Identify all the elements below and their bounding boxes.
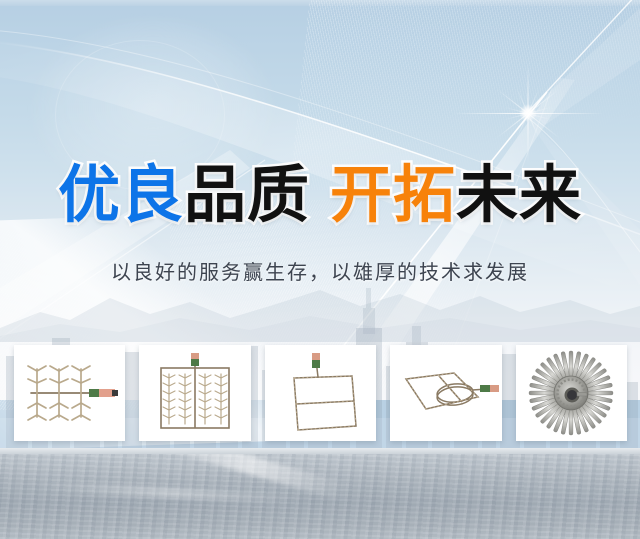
headline-container: 优良品质开拓未来	[0, 164, 640, 226]
product-card[interactable]: 锚固件-V型锚固钉排	[139, 345, 250, 441]
radial-star-anchor-icon	[525, 350, 617, 436]
headline-part-4: 未来	[456, 158, 582, 231]
rect-frame-anchor-icon	[272, 350, 370, 436]
product-card[interactable]: 锚固件-矩形龟甲网骨架	[265, 345, 376, 441]
ring-plate-anchor-icon	[392, 357, 500, 429]
product-card[interactable]: 锚固件-梳状锚固钉	[14, 345, 125, 441]
headline-part-3: 开拓	[330, 158, 456, 231]
promo-banner: 优良品质开拓未来 以良好的服务赢生存，以雄厚的技术求发展 锚固件-梳状锚固钉	[0, 0, 640, 539]
ground-surface	[0, 448, 640, 539]
headline-part-1: 优良	[58, 158, 184, 231]
product-thumbnail-strip: 锚固件-梳状锚固钉	[14, 345, 627, 441]
product-card[interactable]: 锚固件-星型放射状锚固件	[516, 345, 627, 441]
page-title: 优良品质开拓未来	[58, 164, 582, 226]
subtitle: 以良好的服务赢生存，以雄厚的技术求发展	[0, 256, 640, 285]
headline-part-2: 品质	[184, 158, 310, 231]
comb-anchor-icon	[17, 353, 122, 433]
product-card[interactable]: 锚固件-圆孔矩形锚固板	[390, 345, 501, 441]
ground-shelf-edge	[0, 448, 640, 454]
v-anchor-rack-icon	[145, 350, 245, 436]
